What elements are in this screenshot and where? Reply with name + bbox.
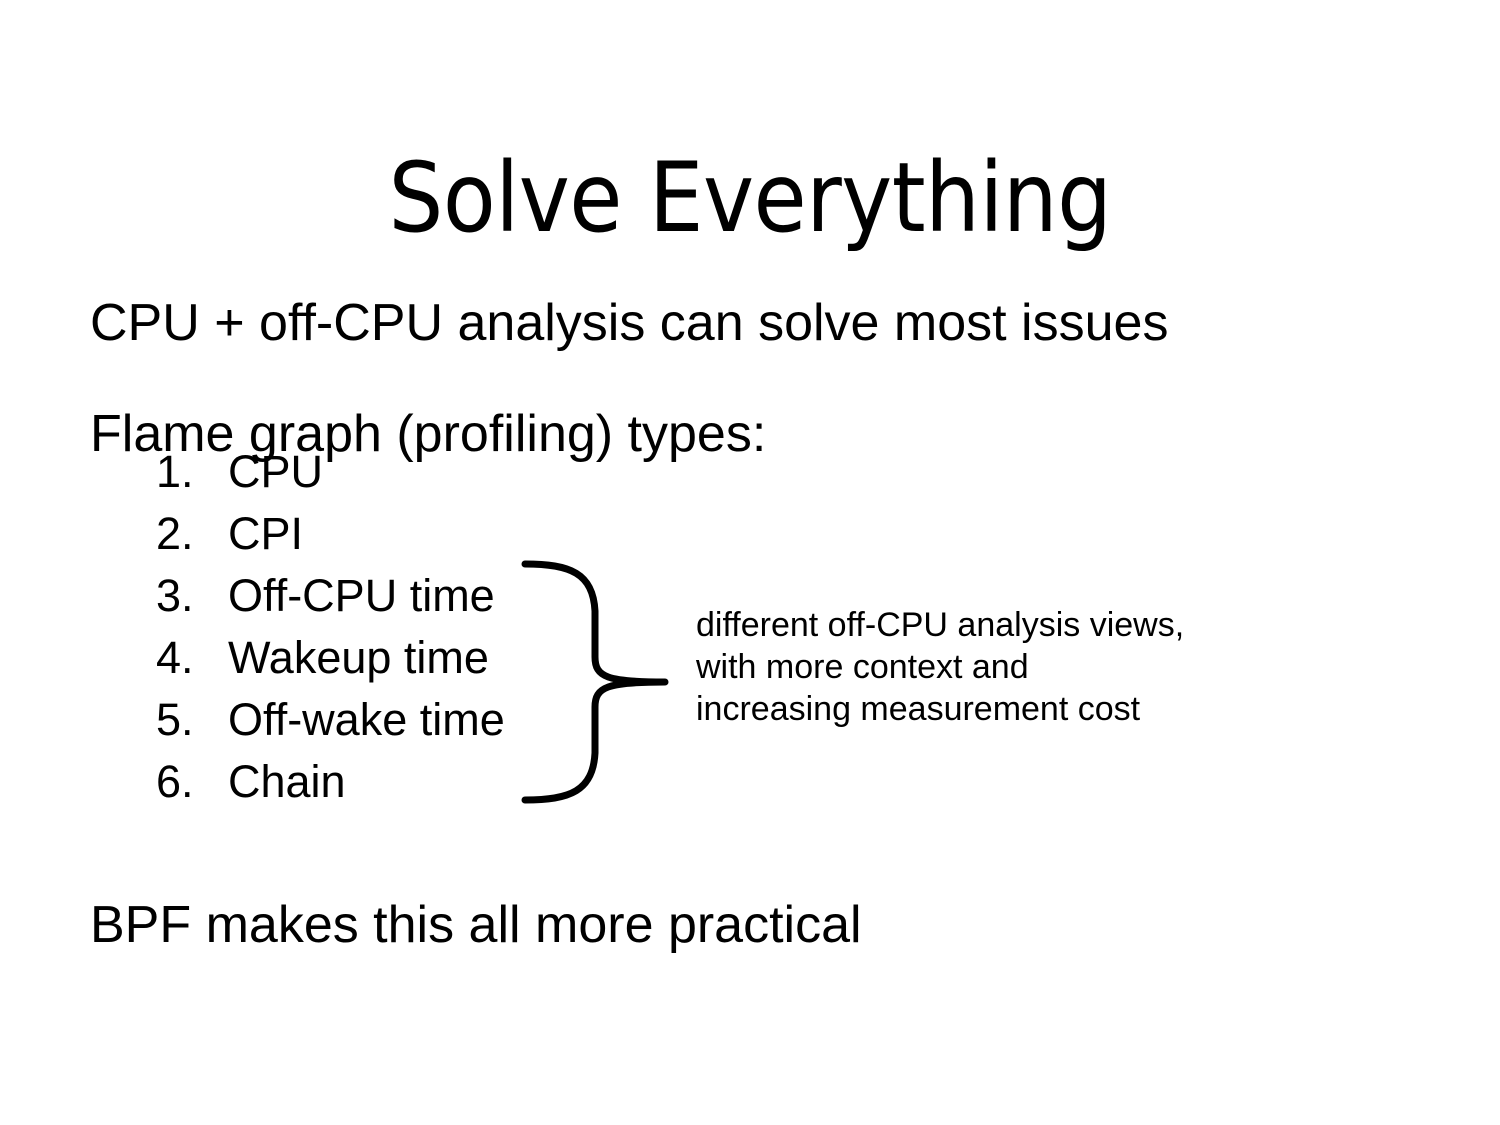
page-title: Solve Everything [0,150,1500,248]
list-item-label: Wakeup time [228,627,489,689]
list-item: 3. Off-CPU time [156,565,505,627]
intro-line: CPU + off-CPU analysis can solve most is… [90,295,1168,352]
annotation-line-1: different off-CPU analysis views, [696,604,1356,646]
list-item-label: CPU [228,441,323,503]
list-item: 2. CPI [156,503,505,565]
list-item-number: 3. [156,565,228,627]
list-item-number: 2. [156,503,228,565]
list-item-label: Chain [228,751,346,813]
flame-graph-type-list: 1. CPU 2. CPI 3. Off-CPU time 4. Wakeup … [156,441,505,813]
list-item-number: 1. [156,441,228,503]
list-item: 1. CPU [156,441,505,503]
list-item: 4. Wakeup time [156,627,505,689]
slide-canvas: Solve Everything CPU + off-CPU analysis … [0,0,1500,1125]
list-item-label: CPI [228,503,303,565]
annotation-text-block: different off-CPU analysis views, with m… [696,604,1356,730]
list-item: 6. Chain [156,751,505,813]
list-item: 5. Off-wake time [156,689,505,751]
annotation-line-2: with more context and [696,646,1356,688]
list-item-label: Off-CPU time [228,565,495,627]
annotation-line-3: increasing measurement cost [696,688,1356,730]
closing-line: BPF makes this all more practical [90,897,862,954]
curly-brace-icon [515,553,680,811]
list-item-number: 4. [156,627,228,689]
list-item-number: 6. [156,751,228,813]
list-item-label: Off-wake time [228,689,505,751]
list-item-number: 5. [156,689,228,751]
